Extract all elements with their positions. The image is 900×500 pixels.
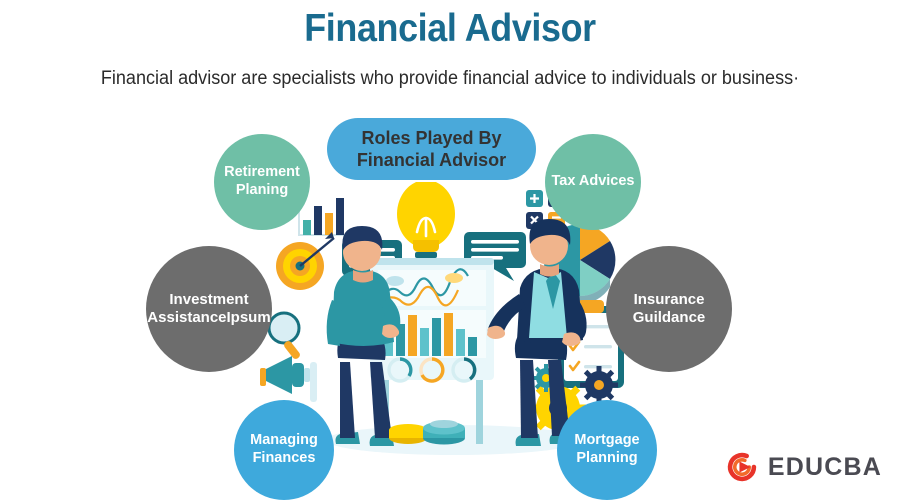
center-node-line2: Financial Advisor — [357, 149, 506, 172]
node-mortgage-line1: Mortgage — [574, 432, 639, 450]
node-retirement-planing[interactable]: Retirement Planing — [214, 134, 310, 230]
node-managing-finances[interactable]: Managing Finances — [234, 400, 334, 500]
node-managing-line1: Managing — [250, 432, 318, 450]
lightbulb-icon — [397, 182, 455, 263]
page-subtitle: Financial advisor are specialists who pr… — [23, 66, 878, 92]
coins-icon — [389, 420, 465, 445]
infographic-canvas: Financial Advisor Financial advisor are … — [0, 0, 900, 500]
target-dartboard-icon — [276, 232, 334, 290]
magnifier-icon — [269, 313, 301, 360]
node-mortgage-planning[interactable]: Mortgage Planning — [557, 400, 657, 500]
node-insurance-line2: Guildance — [633, 309, 706, 327]
node-retirement-line2: Planing — [224, 182, 300, 200]
node-investment-line2: AssistanceIpsum — [147, 309, 270, 327]
node-retirement-line1: Retirement — [224, 164, 300, 182]
node-insurance-guildance[interactable]: Insurance Guildance — [606, 246, 732, 372]
node-managing-line2: Finances — [250, 450, 318, 468]
educba-play-logo-icon — [725, 450, 759, 484]
node-insurance-line1: Insurance — [633, 291, 706, 309]
node-tax-advices[interactable]: Tax Advices — [545, 134, 641, 230]
node-tax-line1: Tax Advices — [551, 173, 634, 191]
node-investment-assistance[interactable]: Investment AssistanceIpsum — [146, 246, 272, 372]
educba-logo[interactable]: EDUCBA — [725, 450, 882, 484]
node-mortgage-line2: Planning — [574, 450, 639, 468]
educba-wordmark: EDUCBA — [768, 453, 882, 482]
megaphone-icon — [260, 356, 317, 402]
center-node-roles-played-by-financial-advisor[interactable]: Roles Played By Financial Advisor — [327, 118, 536, 180]
center-node-line1: Roles Played By — [357, 127, 506, 150]
node-investment-line1: Investment — [147, 291, 270, 309]
page-title: Financial Advisor — [36, 6, 864, 52]
